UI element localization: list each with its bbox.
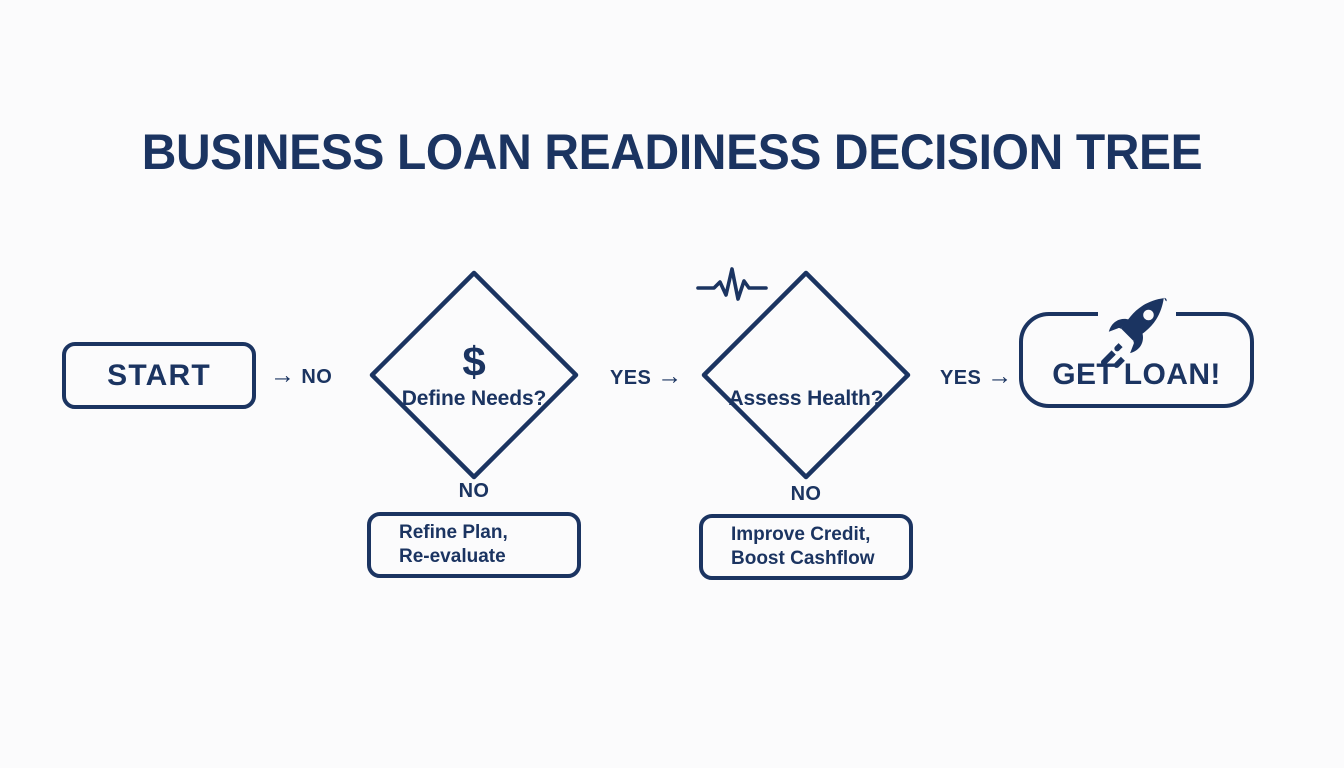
remediation-node-improve-credit[interactable]: Improve Credit, Boost Cashflow (699, 514, 913, 580)
branch-label-no-assess-health: NO (696, 483, 916, 506)
start-node-label: START (107, 359, 211, 393)
connector-define-needs-yes: YES → (610, 365, 683, 390)
decision-node-define-needs[interactable]: $ Define Needs? (364, 265, 584, 485)
arrow-right-icon: → (987, 364, 1012, 389)
start-node[interactable]: START (62, 342, 256, 409)
remediation-line-2: Re-evaluate (399, 545, 577, 569)
diamond-shape (364, 265, 584, 485)
page-title: BUSINESS LOAN READINESS DECISION TREE (27, 120, 1317, 184)
decision-node-assess-health[interactable]: Assess Health? (696, 265, 916, 485)
diagram-canvas: BUSINESS LOAN READINESS DECISION TREE ST… (0, 0, 1344, 768)
branch-label-no-define-needs: NO (364, 480, 584, 503)
remediation-line-1: Refine Plan, (399, 521, 577, 545)
arrow-right-icon: → (657, 364, 682, 389)
arrow-right-icon: → (270, 363, 295, 388)
connector-start-to-define-needs: → NO (270, 364, 332, 389)
connector-label-yes: YES (940, 368, 981, 388)
diamond-shape (696, 265, 916, 485)
remediation-line-1: Improve Credit, (731, 523, 909, 547)
connector-label-no: NO (301, 367, 332, 387)
remediation-line-2: Boost Cashflow (731, 547, 909, 571)
connector-assess-health-yes: YES → (940, 365, 1013, 390)
connector-label-yes: YES (610, 368, 651, 388)
remediation-node-refine-plan[interactable]: Refine Plan, Re-evaluate (367, 512, 581, 578)
rocket-icon (1094, 296, 1180, 374)
